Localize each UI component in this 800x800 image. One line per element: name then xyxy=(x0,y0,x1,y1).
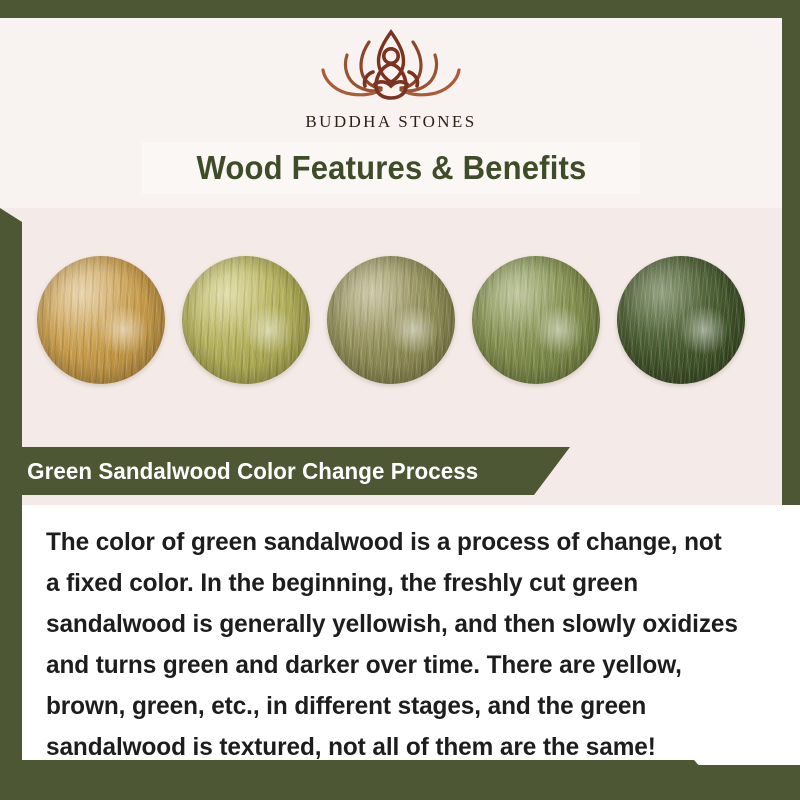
brand-logo: BUDDHA STONES xyxy=(0,22,782,142)
bead-color-progression-row xyxy=(0,255,782,385)
bead-stage-1-yellow-tan xyxy=(37,256,165,384)
bead-stage-3-olive-khaki xyxy=(327,256,455,384)
bottom-green-band xyxy=(0,760,800,800)
body-paragraph: The color of green sandalwood is a proce… xyxy=(46,522,740,768)
title-band: Wood Features & Benefits xyxy=(142,142,640,194)
section-banner-label: Green Sandalwood Color Change Process xyxy=(0,458,478,485)
bead-stage-4-sage-green xyxy=(472,256,600,384)
page-title: Wood Features & Benefits xyxy=(196,149,586,187)
bead-shading xyxy=(37,256,165,384)
brand-wordmark: BUDDHA STONES xyxy=(305,112,476,132)
bead-shading xyxy=(617,256,745,384)
bead-shading xyxy=(472,256,600,384)
bead-shading xyxy=(327,256,455,384)
bead-shading xyxy=(182,256,310,384)
bead-stage-2-yellow-green xyxy=(182,256,310,384)
lotus-meditation-figure-icon xyxy=(303,22,479,110)
bead-stage-5-dark-green xyxy=(617,256,745,384)
section-banner: Green Sandalwood Color Change Process xyxy=(0,447,570,495)
poster-canvas: BUDDHA STONES Wood Features & Benefits xyxy=(0,0,800,800)
